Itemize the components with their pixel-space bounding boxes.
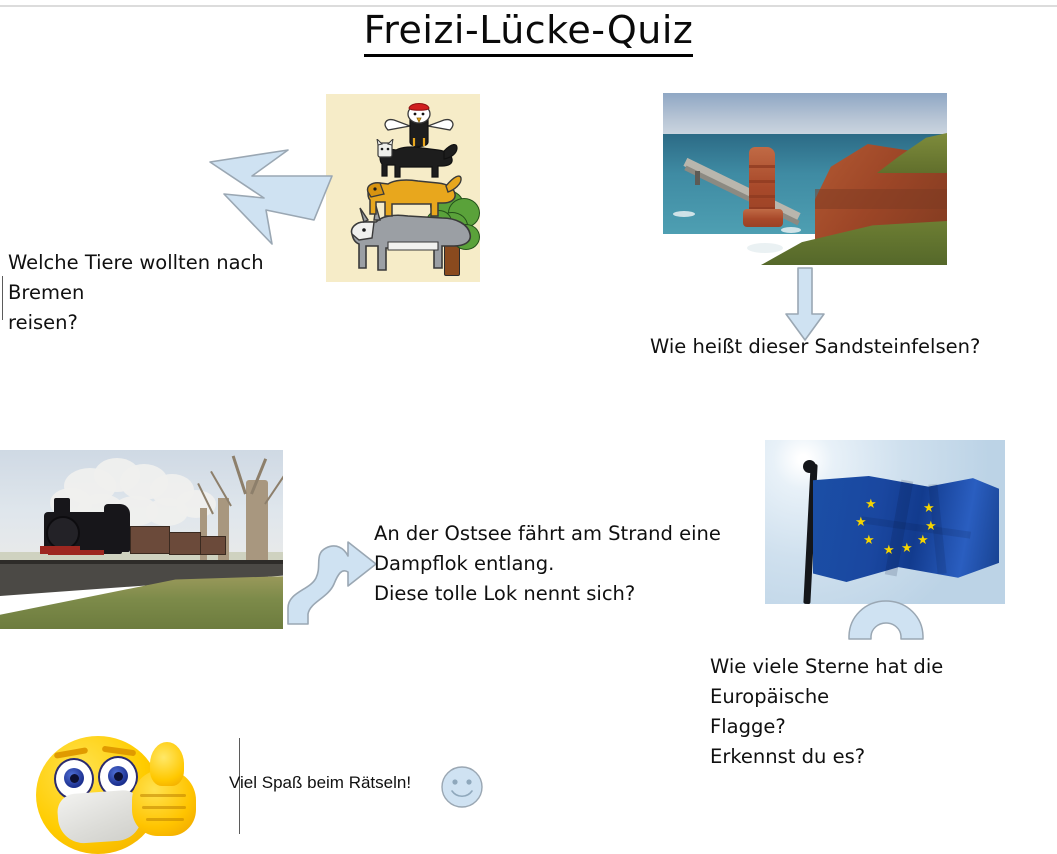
eu-star-icon: ★: [855, 516, 867, 529]
eu-star-icon: ★: [863, 534, 875, 547]
sea-foam-shape: [673, 211, 695, 217]
locomotive-chimney-shape: [54, 498, 70, 514]
page-title: Freizi-Lücke-Quiz: [0, 8, 1057, 52]
rooster-shape: [384, 102, 454, 150]
smiley-pupil-shape: [70, 774, 79, 783]
smiley-pupil-shape: [114, 772, 123, 781]
question-3-text: An der Ostsee fährt am Strand eine Dampf…: [374, 519, 734, 609]
freight-wagon-shape: [169, 532, 201, 555]
helgoland-lange-anna-photo: [663, 93, 947, 265]
sky-region: [663, 93, 947, 138]
locomotive-smokebox-door-shape: [46, 516, 80, 550]
eu-star-icon: ★: [925, 520, 937, 533]
eu-star-icon: ★: [901, 542, 913, 555]
locomotive-running-gear-shape: [48, 550, 104, 555]
freight-wagon-shape: [130, 526, 170, 554]
eu-star-icon: ★: [865, 498, 877, 511]
freight-wagon-shape: [200, 536, 226, 555]
thumb-shape: [150, 742, 184, 786]
s-curved-arrow-right: [284, 528, 378, 628]
cliff-layer-shape: [815, 189, 947, 209]
masked-thumbs-up-smiley: [36, 736, 202, 837]
eu-star-icon: ★: [883, 544, 895, 557]
smoke-puff-shape: [176, 490, 216, 518]
page-top-rule: [0, 5, 1057, 7]
eu-star-icon: ★: [917, 534, 929, 547]
arch-shape: [847, 598, 925, 640]
rail-track-shape: [0, 560, 283, 564]
page-title-text: Freizi-Lücke-Quiz: [364, 8, 694, 57]
pier-bollard-shape: [695, 171, 700, 185]
finger-crease-shape: [142, 806, 186, 809]
steam-locomotive-photo: [0, 450, 283, 629]
sea-foam-shape: [781, 227, 801, 233]
quiz-page: Freizi-Lücke-Quiz: [0, 0, 1057, 837]
european-union-flag-photo: ★ ★ ★ ★ ★ ★ ★ ★: [765, 440, 1005, 604]
bremen-town-musicians-illustration: [326, 94, 480, 282]
lightning-bolt-arrow-down-left: [204, 118, 336, 248]
question-2-text: Wie heißt dieser Sandsteinfelsen?: [650, 332, 1030, 362]
question-4-text: Wie viele Sterne hat die Europäische Fla…: [710, 652, 1057, 772]
question-1-text: Welche Tiere wollten nach Bremen reisen?: [8, 248, 338, 338]
flag-pole-finial-shape: [803, 460, 816, 473]
eu-star-icon: ★: [923, 502, 935, 515]
sea-foam-shape: [747, 243, 783, 253]
finger-crease-shape: [140, 794, 186, 797]
finger-crease-shape: [146, 818, 184, 821]
locomotive-cab-shape: [104, 504, 130, 552]
text-caret-left: [2, 276, 3, 320]
arrow-down: [785, 268, 825, 342]
lange-anna-base-shape: [743, 209, 783, 227]
blue-smiley-face-shape: [440, 765, 484, 813]
